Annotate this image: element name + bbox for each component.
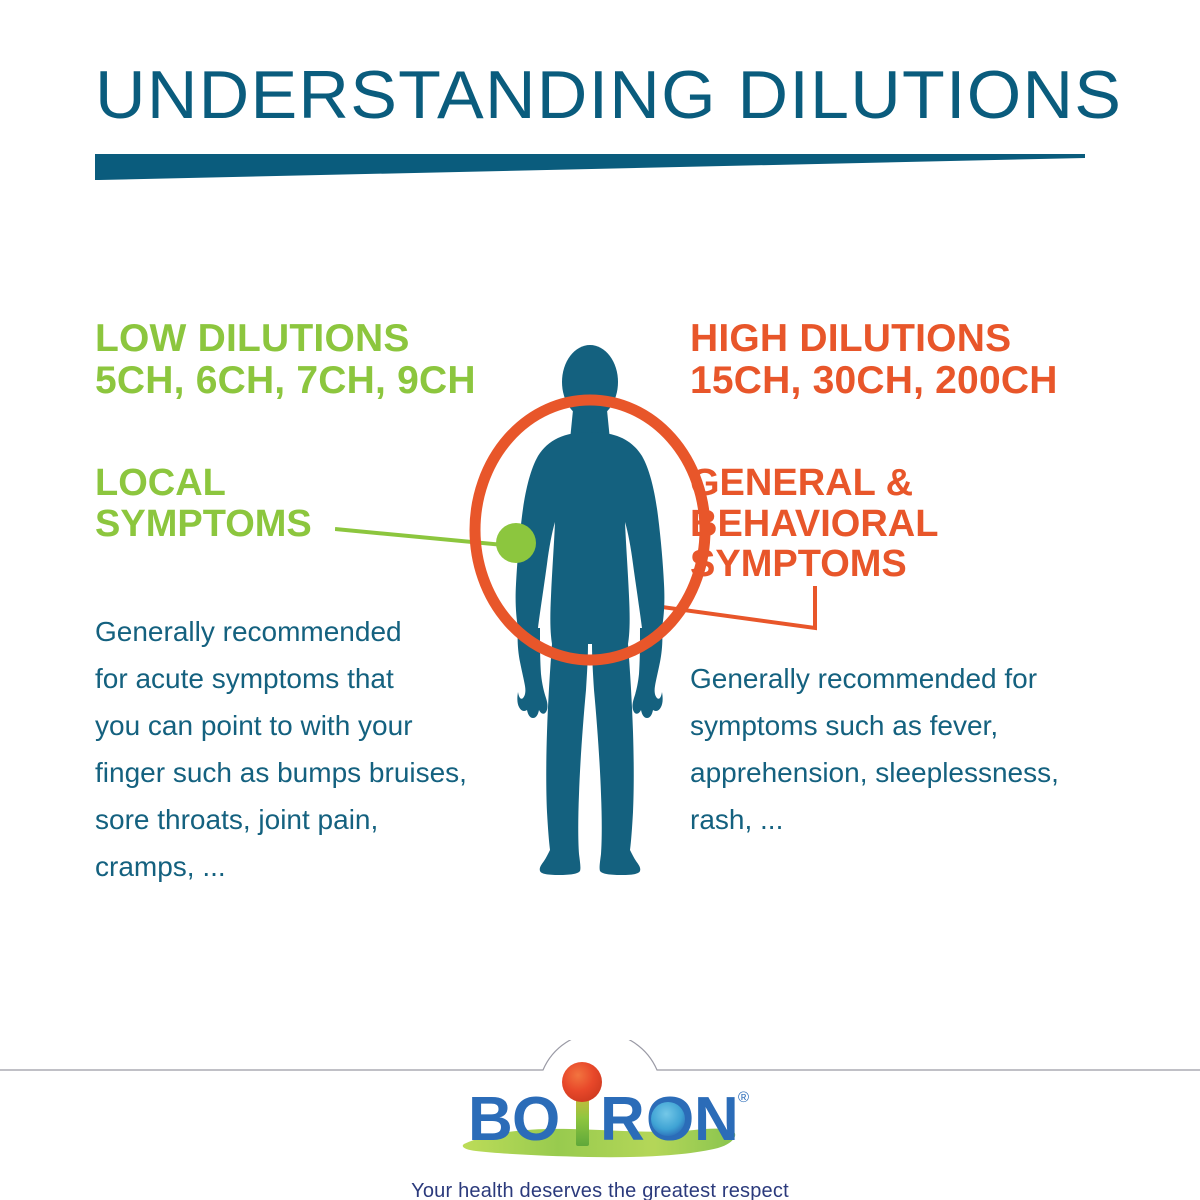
local-symptoms-heading: LOCAL SYMPTOMS bbox=[95, 463, 312, 544]
infographic-page: UNDERSTANDING DILUTIONS LOW DILUTIONS 5C… bbox=[0, 0, 1200, 1200]
brand-tagline: Your health deserves the greatest respec… bbox=[0, 1180, 1200, 1200]
boiron-logo-mark: B O R O N ® bbox=[450, 1056, 750, 1179]
page-title: UNDERSTANDING DILUTIONS bbox=[95, 56, 1135, 134]
general-symptoms-description: Generally recommended for symptoms such … bbox=[690, 655, 1120, 843]
svg-text:N: N bbox=[694, 1085, 740, 1154]
svg-text:B: B bbox=[468, 1085, 514, 1154]
boiron-logo: B O R O N ® bbox=[0, 1056, 1200, 1179]
body-figure-illustration bbox=[440, 340, 740, 885]
logo-blue-sphere bbox=[651, 1102, 685, 1136]
svg-text:R: R bbox=[600, 1085, 646, 1154]
footer: B O R O N ® Your health bbox=[0, 1040, 1200, 1200]
title-underline-bar bbox=[95, 152, 1085, 184]
human-body-silhouette bbox=[516, 345, 665, 875]
boiron-wordmark: B O R O N bbox=[468, 1085, 740, 1154]
local-symptom-point bbox=[496, 523, 536, 563]
low-dilutions-heading: LOW DILUTIONS 5CH, 6CH, 7CH, 9CH bbox=[95, 318, 476, 401]
svg-text:O: O bbox=[512, 1085, 561, 1154]
registered-trademark-icon: ® bbox=[738, 1089, 749, 1106]
flower-bloom bbox=[562, 1062, 602, 1102]
high-dilutions-heading: HIGH DILUTIONS 15CH, 30CH, 200CH bbox=[690, 318, 1058, 401]
